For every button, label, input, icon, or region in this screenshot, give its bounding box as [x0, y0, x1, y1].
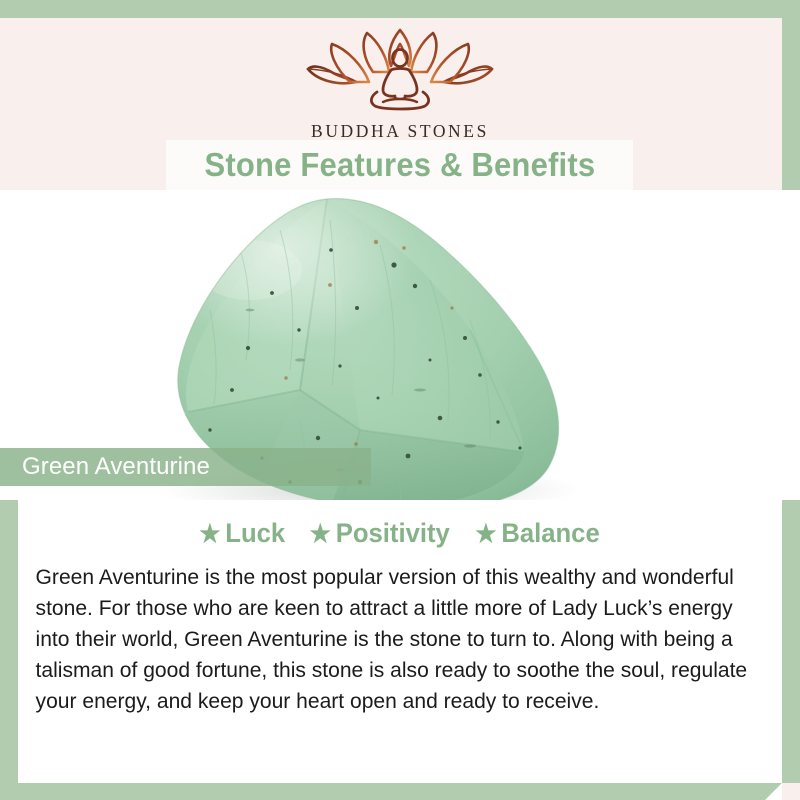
lotus-meditation-figure-icon — [0, 22, 800, 119]
page-title: Stone Features & Benefits — [204, 146, 595, 184]
keyword-item-balance: ★Balance — [475, 518, 599, 549]
star-icon: ★ — [310, 520, 331, 548]
keyword-item-positivity: ★Positivity — [310, 518, 450, 549]
content-section: ★Luck ★Positivity ★Balance Green Aventur… — [18, 500, 782, 783]
brand-name: BUDDHA STONES — [0, 121, 800, 142]
star-icon: ★ — [199, 520, 220, 548]
stone-name-band: Green Aventurine — [0, 448, 371, 486]
keyword-list: ★Luck ★Positivity ★Balance — [18, 518, 782, 549]
stone-name: Green Aventurine — [22, 453, 210, 481]
keyword-item-luck: ★Luck — [199, 518, 285, 549]
star-icon: ★ — [475, 520, 496, 548]
title-banner: Stone Features & Benefits — [166, 140, 633, 190]
keyword-label: Luck — [225, 518, 285, 548]
infographic-page: BUDDHA STONES — [0, 0, 800, 800]
keyword-label: Balance — [501, 518, 599, 548]
brand-logo: BUDDHA STONES — [0, 22, 800, 142]
frame-border-top — [0, 0, 800, 18]
keyword-label: Positivity — [336, 518, 450, 548]
corner-accent-bottom-right — [782, 783, 800, 800]
stone-description: Green Aventurine is the most popular ver… — [18, 561, 763, 716]
frame-border-bottom — [0, 783, 782, 800]
